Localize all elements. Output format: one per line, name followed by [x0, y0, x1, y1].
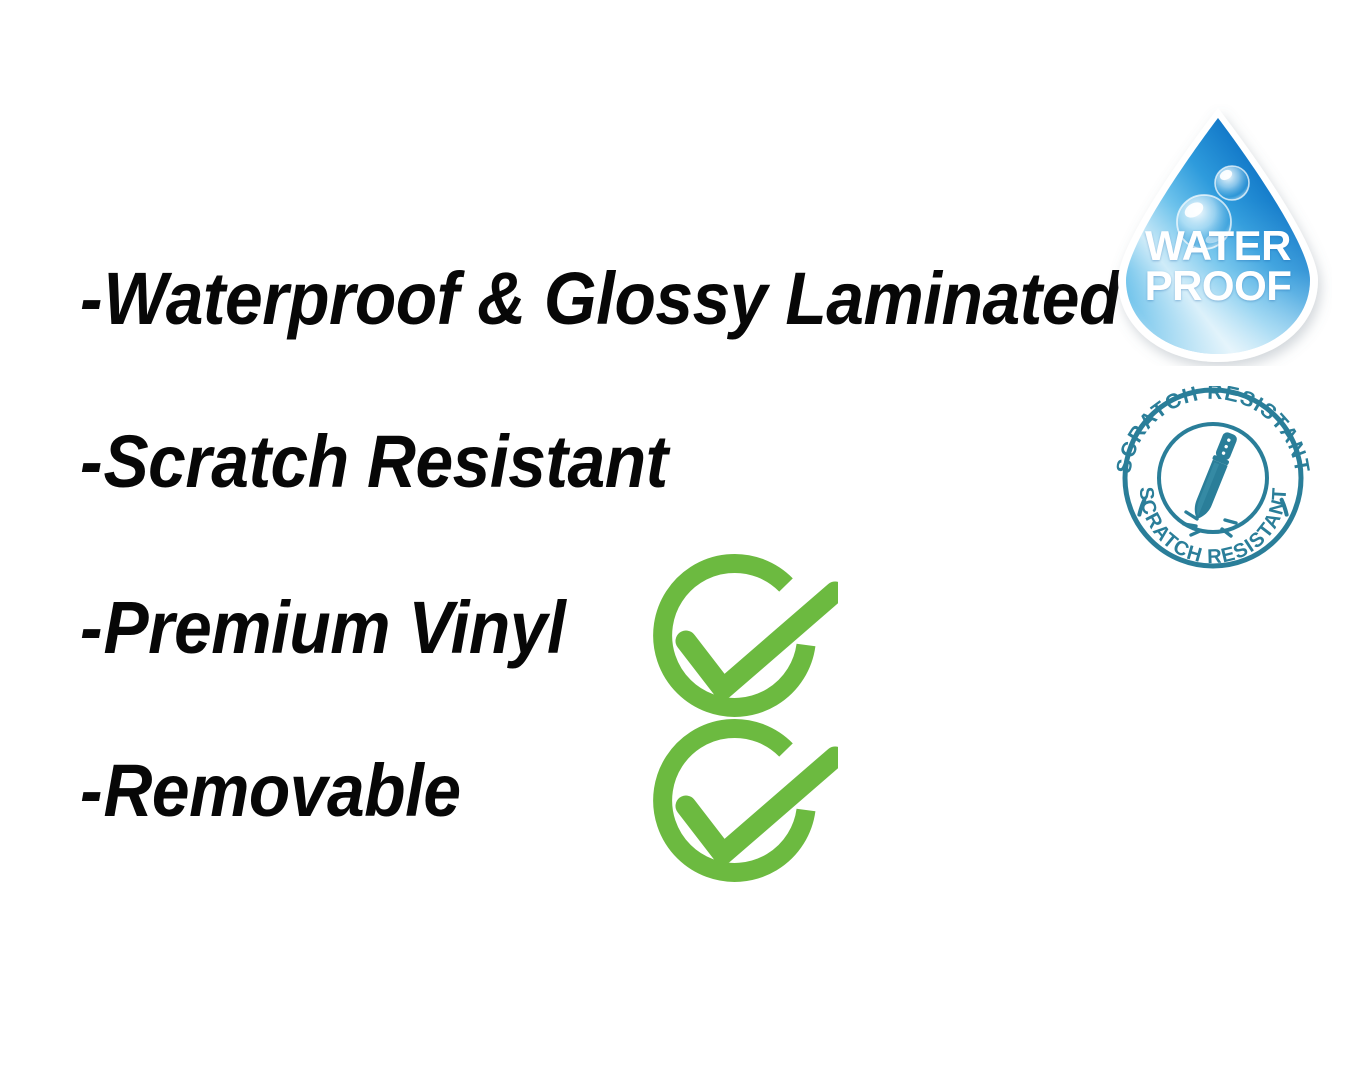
poster-canvas: -Waterproof & Glossy Laminated -Scratch …: [0, 0, 1359, 1080]
checkmark-removable: [638, 710, 838, 910]
feature-dash: -: [80, 257, 103, 340]
feature-dash: -: [80, 749, 103, 832]
feature-item-removable: -Removable: [80, 754, 461, 828]
check-tick: [686, 757, 835, 854]
waterproof-badge: WATER PROOF: [1104, 104, 1332, 366]
feature-label: Removable: [103, 749, 460, 832]
check-circle-icon: [638, 710, 838, 910]
scratch-resistant-badge: SCRATCH RESISTANT SCRATCH RESISTANT: [1112, 386, 1314, 570]
feature-item-waterproof: -Waterproof & Glossy Laminated: [80, 262, 1120, 336]
feature-item-premium-vinyl: -Premium Vinyl: [80, 591, 565, 665]
knife-stamp-icon: SCRATCH RESISTANT SCRATCH RESISTANT: [1112, 386, 1314, 570]
water-drop-icon: [1104, 104, 1332, 366]
feature-label: Scratch Resistant: [103, 420, 667, 503]
bubble-small-icon: [1215, 166, 1249, 200]
knife-icon: [1189, 430, 1239, 522]
feature-label: Premium Vinyl: [103, 586, 565, 669]
feature-label: Waterproof & Glossy Laminated: [103, 257, 1119, 340]
feature-dash: -: [80, 586, 103, 669]
feature-item-scratch-resistant: -Scratch Resistant: [80, 425, 668, 499]
bubble-large-icon: [1177, 195, 1231, 249]
check-tick: [686, 592, 835, 689]
feature-dash: -: [80, 420, 103, 503]
